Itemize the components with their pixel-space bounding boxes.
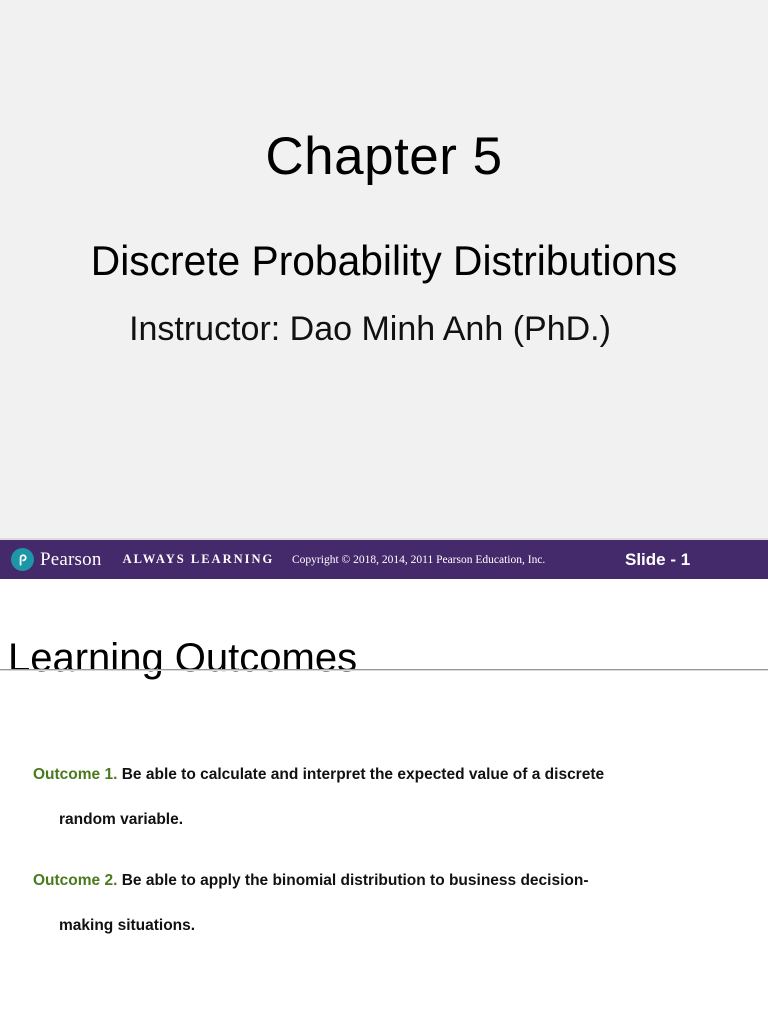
- heading-divider: [0, 669, 768, 671]
- outcome-label: Outcome 1.: [33, 766, 117, 783]
- pearson-wordmark: Pearson: [40, 549, 102, 571]
- outcome-text-continuation: random variable.: [33, 797, 733, 842]
- learning-outcomes-slide: Learning Outcomes Outcome 1. Be able to …: [0, 579, 768, 1024]
- outcome-text: Be able to calculate and interpret the e…: [122, 766, 604, 783]
- list-item: Outcome 1. Be able to calculate and inte…: [33, 752, 733, 843]
- chapter-title: Chapter 5: [0, 128, 768, 186]
- slide-number: Slide - 1: [625, 550, 690, 570]
- pearson-p-icon: [11, 548, 34, 571]
- title-slide: Chapter 5 Discrete Probability Distribut…: [0, 0, 768, 538]
- outcome-text: Be able to apply the binomial distributi…: [122, 872, 589, 889]
- outcomes-list: Outcome 1. Be able to calculate and inte…: [33, 736, 733, 949]
- instructor-line: Instructor: Dao Minh Anh (PhD.): [0, 309, 768, 350]
- slide-deck-page: Chapter 5 Discrete Probability Distribut…: [0, 0, 768, 1024]
- pearson-logo: Pearson ALWAYS LEARNING: [11, 548, 274, 571]
- always-learning-tagline: ALWAYS LEARNING: [123, 552, 275, 567]
- list-item: Outcome 2. Be able to apply the binomial…: [33, 858, 733, 949]
- page-title: Learning Outcomes: [8, 636, 357, 680]
- copyright-notice: Copyright © 2018, 2014, 2011 Pearson Edu…: [292, 554, 545, 566]
- pearson-footer-bar: Pearson ALWAYS LEARNING Copyright © 2018…: [0, 540, 768, 579]
- outcome-label: Outcome 2.: [33, 872, 117, 889]
- chapter-subtitle: Discrete Probability Distributions: [12, 237, 757, 285]
- outcome-text-continuation: making situations.: [33, 903, 733, 948]
